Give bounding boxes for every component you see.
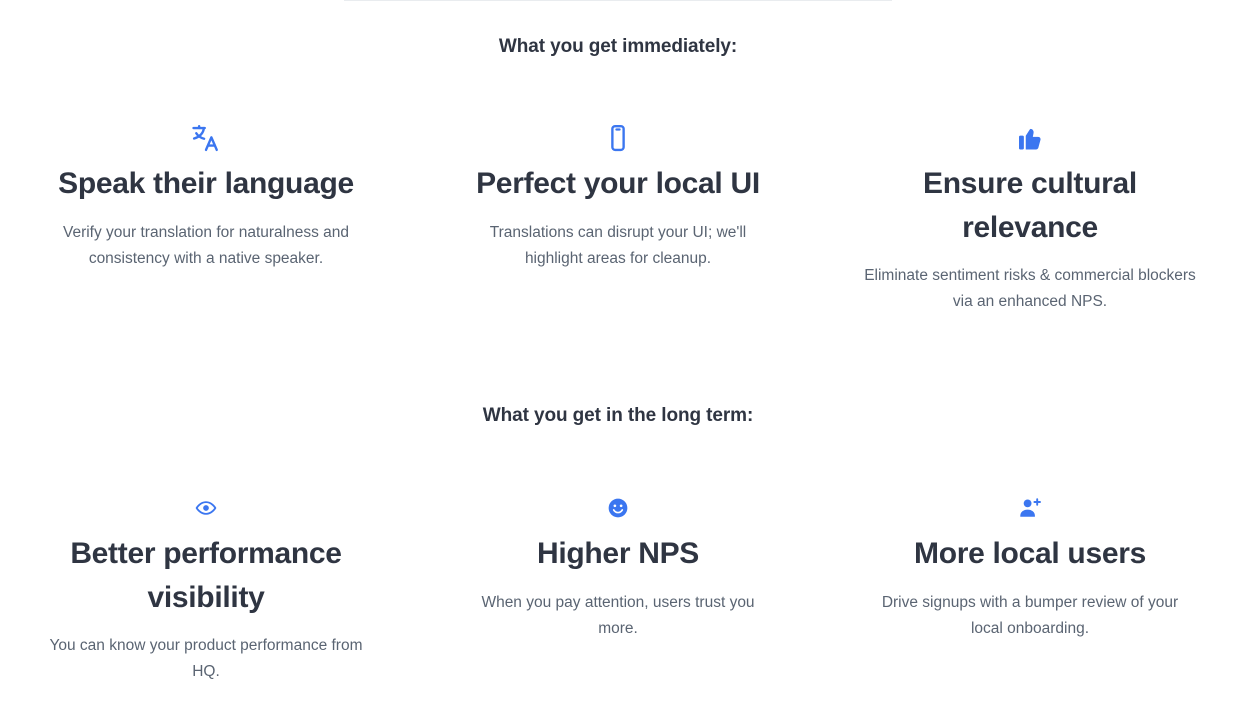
benefits-page: What you get immediately: Speak their la…: [0, 0, 1236, 721]
eye-icon: [38, 488, 374, 528]
benefit-card-description: Verify your translation for naturalness …: [38, 220, 374, 272]
benefit-card-title: Ensure cultural relevance: [862, 162, 1198, 249]
benefit-card-description: You can know your product performance fr…: [38, 633, 374, 685]
thumbs-up-icon: [862, 118, 1198, 158]
benefit-card-speak-their-language: Speak their language Verify your transla…: [0, 118, 412, 315]
mobile-phone-icon: [450, 118, 786, 158]
benefit-card-better-performance-visibility: Better performance visibility You can kn…: [0, 488, 412, 685]
benefit-card-description: Eliminate sentiment risks & commercial b…: [862, 263, 1198, 315]
smiley-face-icon: [450, 488, 786, 528]
benefit-card-title: Higher NPS: [450, 532, 786, 576]
benefit-card-ensure-cultural-relevance: Ensure cultural relevance Eliminate sent…: [824, 118, 1236, 315]
benefit-card-perfect-your-local-ui: Perfect your local UI Translations can d…: [412, 118, 824, 315]
benefit-card-title: Better performance visibility: [38, 532, 374, 619]
benefit-card-description: Translations can disrupt your UI; we'll …: [450, 220, 786, 272]
benefit-card-higher-nps: Higher NPS When you pay attention, users…: [412, 488, 824, 685]
benefit-card-title: Speak their language: [38, 162, 374, 206]
section-heading-immediate: What you get immediately:: [0, 36, 1236, 58]
add-user-icon: [862, 488, 1198, 528]
benefit-card-more-local-users: More local users Drive signups with a bu…: [824, 488, 1236, 685]
benefit-card-title: More local users: [862, 532, 1198, 576]
top-divider: [344, 0, 892, 1]
benefits-grid-immediate: Speak their language Verify your transla…: [0, 118, 1236, 315]
benefits-grid-long-term: Better performance visibility You can kn…: [0, 488, 1236, 685]
section-heading-long-term: What you get in the long term:: [0, 405, 1236, 427]
benefit-card-description: Drive signups with a bumper review of yo…: [862, 590, 1198, 642]
benefit-card-description: When you pay attention, users trust you …: [450, 590, 786, 642]
translate-icon: [38, 118, 374, 158]
benefit-card-title: Perfect your local UI: [450, 162, 786, 206]
